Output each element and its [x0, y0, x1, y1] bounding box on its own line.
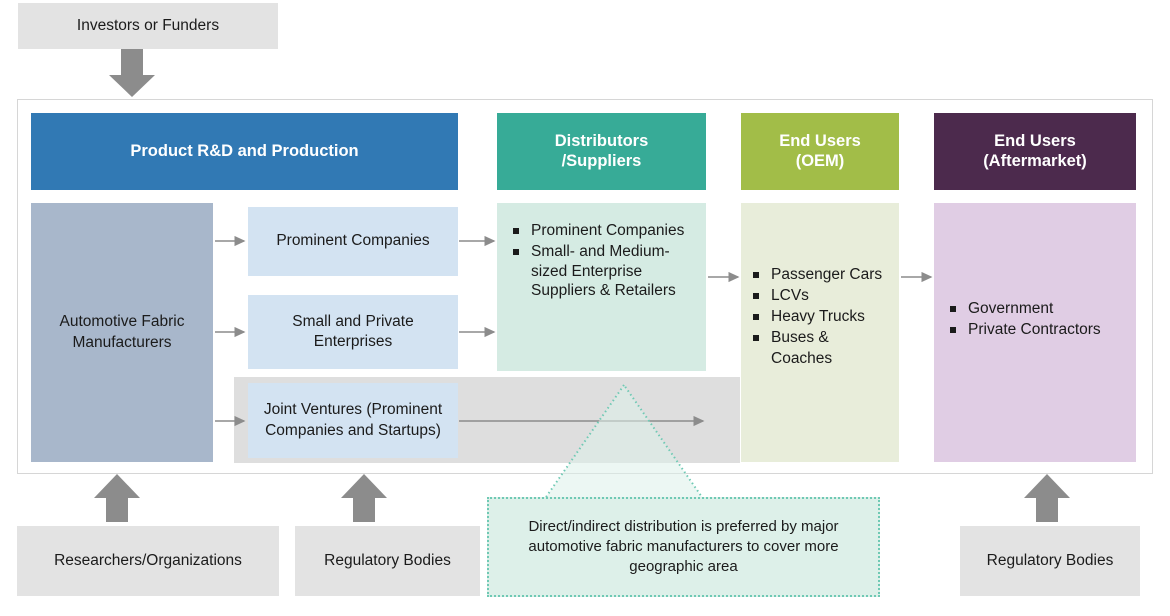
box-joint-ventures-label: Joint Ventures (Prominent Companies and …: [256, 400, 450, 440]
column-header-oem-line2: (OEM): [796, 152, 845, 170]
oem-list: Passenger Cars LCVs Heavy Trucks Buses &…: [751, 265, 891, 369]
column-header-product-rd-label: Product R&D and Production: [130, 142, 358, 161]
automotive-fabric-manufacturers-box: Automotive Fabric Manufacturers: [31, 203, 213, 462]
list-item: Heavy Trucks: [751, 307, 891, 327]
column-header-distributors-line1: Distributors: [555, 132, 649, 150]
investors-or-funders-label: Investors or Funders: [77, 17, 219, 35]
callout-distribution-note: Direct/indirect distribution is preferre…: [487, 497, 880, 597]
arrow-up-regulatory-bodies-right-to-diagram: [1024, 474, 1070, 520]
column-header-end-users-oem: End Users (OEM): [741, 113, 899, 190]
list-item: Government: [948, 299, 1128, 319]
feeder-regulatory-bodies-left: Regulatory Bodies: [295, 526, 480, 596]
box-prominent-companies: Prominent Companies: [248, 207, 458, 276]
list-item: Prominent Companies: [511, 221, 696, 241]
feeder-regulatory-bodies-left-label: Regulatory Bodies: [324, 552, 451, 570]
distributors-suppliers-panel: Prominent Companies Small- and Medium-si…: [497, 203, 706, 371]
arrow-down-investors-to-diagram: [109, 49, 155, 97]
feeder-regulatory-bodies-right-label: Regulatory Bodies: [987, 552, 1114, 570]
list-item: Passenger Cars: [751, 265, 891, 285]
feeder-researchers-organizations-label: Researchers/Organizations: [54, 552, 242, 570]
box-small-and-private-enterprises-label: Small and Private Enterprises: [256, 312, 450, 352]
list-item: Private Contractors: [948, 320, 1128, 340]
end-users-aftermarket-panel: Government Private Contractors: [934, 203, 1136, 462]
list-item: Buses & Coaches: [751, 328, 891, 368]
distributors-list: Prominent Companies Small- and Medium-si…: [511, 221, 696, 301]
column-header-distributors: Distributors /Suppliers: [497, 113, 706, 190]
investors-or-funders-box: Investors or Funders: [18, 3, 278, 49]
list-item: LCVs: [751, 286, 891, 306]
column-header-oem-line1: End Users: [779, 132, 861, 150]
box-joint-ventures: Joint Ventures (Prominent Companies and …: [248, 383, 458, 458]
box-prominent-companies-label: Prominent Companies: [276, 231, 429, 251]
automotive-fabric-manufacturers-label: Automotive Fabric Manufacturers: [39, 312, 205, 352]
arrow-up-researchers-to-diagram: [94, 474, 140, 520]
callout-pointer: [486, 380, 906, 512]
box-small-and-private-enterprises: Small and Private Enterprises: [248, 295, 458, 369]
arrow-up-regulatory-bodies-left-to-diagram: [341, 474, 387, 520]
feeder-researchers-organizations: Researchers/Organizations: [17, 526, 279, 596]
column-header-product-rd: Product R&D and Production: [31, 113, 458, 190]
list-item: Small- and Medium-sized Enterprise Suppl…: [511, 242, 696, 301]
column-header-aftermarket-line2: (Aftermarket): [983, 152, 1087, 170]
feeder-regulatory-bodies-right: Regulatory Bodies: [960, 526, 1140, 596]
callout-distribution-note-text: Direct/indirect distribution is preferre…: [503, 517, 864, 578]
column-header-end-users-aftermarket: End Users (Aftermarket): [934, 113, 1136, 190]
aftermarket-list: Government Private Contractors: [948, 299, 1128, 340]
column-header-distributors-line2: /Suppliers: [562, 152, 642, 170]
column-header-aftermarket-line1: End Users: [994, 132, 1076, 150]
